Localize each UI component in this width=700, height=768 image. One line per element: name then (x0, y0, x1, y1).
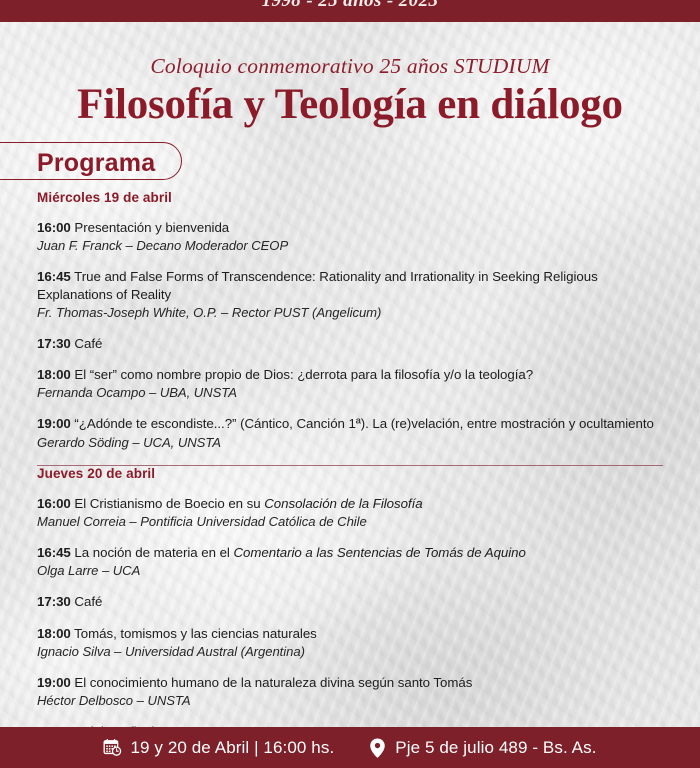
entry-speaker: Ignacio Silva – Universidad Austral (Arg… (37, 643, 665, 660)
entry-title: “¿Adónde te escondiste...?” (Cántico, Ca… (74, 416, 653, 431)
entry-speaker: Fernanda Ocampo – UBA, UNSTA (37, 384, 665, 401)
entry-title: True and False Forms of Transcendence: R… (37, 269, 598, 301)
entry-title: Tomás, tomismos y las ciencias naturales (74, 626, 317, 641)
day-block-thursday: Jueves 20 de abril 16:00 El Cristianismo… (37, 466, 665, 759)
map-pin-icon (368, 738, 387, 757)
entry-line: 16:45 True and False Forms of Transcende… (37, 268, 665, 303)
entry-time: 16:00 (37, 496, 71, 511)
entry-speaker: Gerardo Söding – UCA, UNSTA (37, 434, 665, 451)
entry-title: La noción de materia en el (74, 545, 233, 560)
schedule-entry: 16:45 True and False Forms of Transcende… (37, 268, 665, 321)
anniversary-banner: 1998 - 25 años - 2023 (0, 0, 700, 22)
schedule-entry: 19:00 “¿Adónde te escondiste...?” (Cánti… (37, 415, 665, 450)
entry-speaker: Juan F. Franck – Decano Moderador CEOP (37, 237, 665, 254)
anniversary-text: 1998 - 25 años - 2023 (0, 0, 700, 12)
entry-title: El Cristianismo de Boecio en su (74, 496, 264, 511)
entry-speaker: Manuel Correia – Pontificia Universidad … (37, 513, 665, 530)
programa-badge-label: Programa (37, 149, 155, 178)
schedule-entry: 18:00 El “ser” como nombre propio de Dio… (37, 366, 665, 401)
calendar-clock-icon (103, 738, 122, 757)
entry-title: Presentación y bienvenida (74, 220, 229, 235)
entry-title: Café (74, 336, 102, 351)
section-divider (37, 465, 663, 466)
entry-line: 18:00 El “ser” como nombre propio de Dio… (37, 366, 665, 383)
footer-date-text: 19 y 20 de Abril | 16:00 hs. (130, 738, 334, 758)
footer-bar: 19 y 20 de Abril | 16:00 hs. Pje 5 de ju… (0, 727, 700, 768)
entry-line: 16:45 La noción de materia en el Comenta… (37, 544, 665, 561)
schedule-entry: 17:30 Café (37, 335, 665, 352)
entry-time: 19:00 (37, 416, 71, 431)
entry-line: 19:00 “¿Adónde te escondiste...?” (Cánti… (37, 415, 665, 432)
entry-line: 19:00 El conocimiento humano de la natur… (37, 674, 665, 691)
entry-time: 16:45 (37, 269, 71, 284)
entry-line: 16:00 Presentación y bienvenida (37, 219, 665, 236)
schedule-entry: 19:00 El conocimiento humano de la natur… (37, 674, 665, 709)
program-schedule: Miércoles 19 de abril 16:00 Presentación… (37, 190, 665, 759)
schedule-entry: 17:30 Café (37, 593, 665, 610)
footer-date-item: 19 y 20 de Abril | 16:00 hs. (103, 738, 334, 758)
schedule-entry: 16:00 Presentación y bienvenida Juan F. … (37, 219, 665, 254)
schedule-entry: 16:45 La noción de materia en el Comenta… (37, 544, 665, 579)
schedule-entry: 16:00 El Cristianismo de Boecio en su Co… (37, 495, 665, 530)
entry-title: El “ser” como nombre propio de Dios: ¿de… (74, 367, 533, 382)
entry-time: 16:45 (37, 545, 71, 560)
entry-title-italic: Consolación de la Filosofía (264, 496, 422, 511)
entry-line: 16:00 El Cristianismo de Boecio en su Co… (37, 495, 665, 512)
entry-time: 18:00 (37, 626, 71, 641)
entry-line: 17:30 Café (37, 593, 665, 610)
entry-line: 17:30 Café (37, 335, 665, 352)
entry-time: 18:00 (37, 367, 71, 382)
entry-time: 17:30 (37, 336, 71, 351)
entry-time: 19:00 (37, 675, 71, 690)
entry-time: 17:30 (37, 594, 71, 609)
day-header-wednesday: Miércoles 19 de abril (37, 190, 665, 205)
day-block-wednesday: Miércoles 19 de abril 16:00 Presentación… (37, 190, 665, 451)
entry-speaker: Fr. Thomas-Joseph White, O.P. – Rector P… (37, 304, 665, 321)
poster-subtitle: Coloquio conmemorativo 25 años STUDIUM (0, 54, 700, 79)
entry-time: 16:00 (37, 220, 71, 235)
entry-speaker: Olga Larre – UCA (37, 562, 665, 579)
entry-speaker: Héctor Delbosco – UNSTA (37, 692, 665, 709)
footer-location-item: Pje 5 de julio 489 - Bs. As. (368, 738, 596, 758)
entry-title-italic: Comentario a las Sentencias de Tomás de … (233, 545, 525, 560)
poster-header: Coloquio conmemorativo 25 años STUDIUM F… (0, 22, 700, 128)
page-title: Filosofía y Teología en diálogo (0, 82, 700, 128)
schedule-entry: 18:00 Tomás, tomismos y las ciencias nat… (37, 625, 665, 660)
entry-title: Café (74, 594, 102, 609)
footer-location-text: Pje 5 de julio 489 - Bs. As. (395, 738, 596, 758)
day-header-thursday: Jueves 20 de abril (37, 466, 665, 481)
poster-canvas: 1998 - 25 años - 2023 Coloquio conmemora… (0, 0, 700, 768)
entry-line: 18:00 Tomás, tomismos y las ciencias nat… (37, 625, 665, 642)
entry-title: El conocimiento humano de la naturaleza … (74, 675, 472, 690)
